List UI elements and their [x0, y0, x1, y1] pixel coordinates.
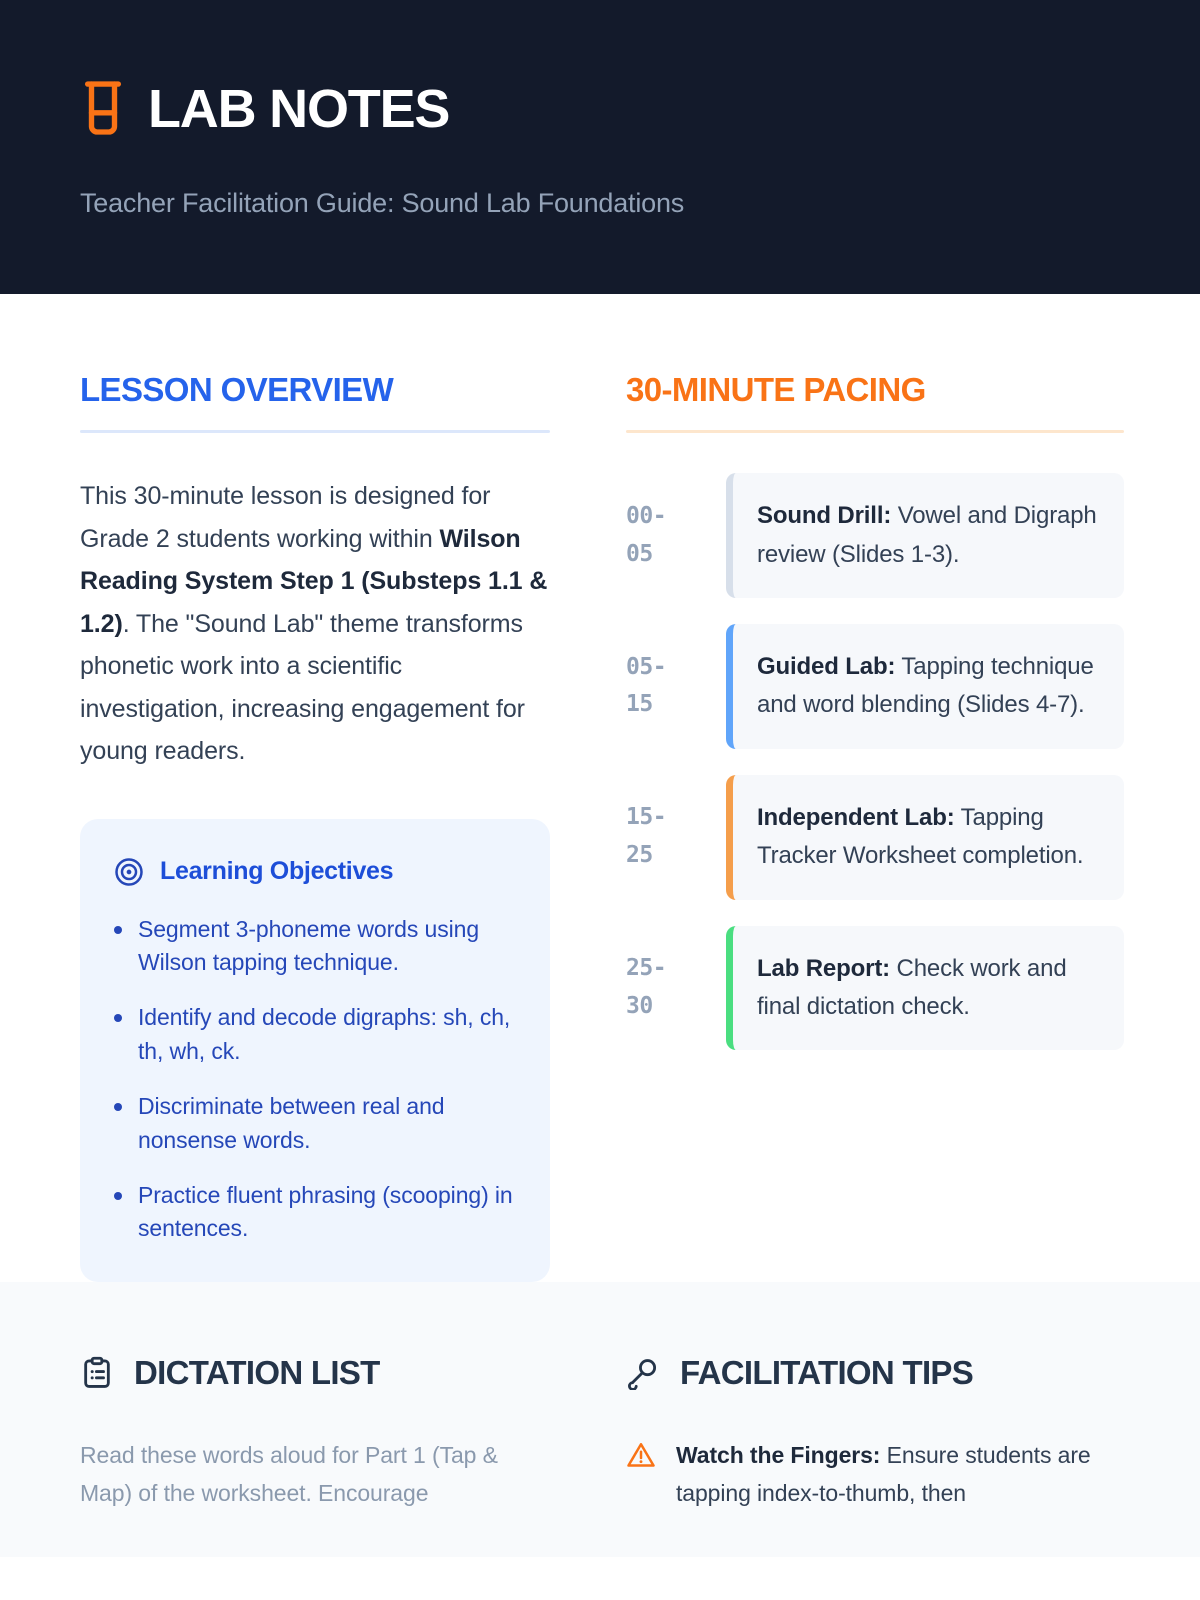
tip-item: Watch the Fingers: Ensure students are t…	[626, 1436, 1124, 1513]
list-item: Identify and decode digraphs: sh, ch, th…	[114, 1001, 516, 1068]
list-item: Discriminate between real and nonsense w…	[114, 1090, 516, 1157]
learning-objectives-header: Learning Objectives	[114, 857, 516, 887]
brand-row: LAB NOTES	[80, 78, 1120, 140]
pacing-time: 15- 25	[626, 775, 700, 900]
pacing-time-start: 25-	[626, 950, 700, 988]
objective-text: Practice fluent phrasing (scooping) in s…	[138, 1179, 516, 1246]
pacing-card: Lab Report: Check work and final dictati…	[726, 926, 1124, 1051]
main-top-section: LESSON OVERVIEW This 30-minute lesson is…	[0, 294, 1200, 1282]
pacing-row: 15- 25 Independent Lab: Tapping Tracker …	[626, 775, 1124, 900]
objective-text: Segment 3-phoneme words using Wilson tap…	[138, 913, 516, 980]
pacing-row: 00- 05 Sound Drill: Vowel and Digraph re…	[626, 473, 1124, 598]
pacing-card: Independent Lab: Tapping Tracker Workshe…	[726, 775, 1124, 900]
tips-heading: FACILITATION TIPS	[680, 1354, 973, 1392]
pacing-time-end: 30	[626, 988, 700, 1026]
pacing-time: 05- 15	[626, 624, 700, 749]
pacing-label: Independent Lab:	[757, 804, 955, 831]
learning-objectives-card: Learning Objectives Segment 3-phoneme wo…	[80, 819, 550, 1282]
pacing-time-start: 05-	[626, 649, 700, 687]
lesson-overview-divider	[80, 430, 550, 433]
pacing-divider	[626, 430, 1124, 433]
dictation-column: DICTATION LIST Read these words aloud fo…	[80, 1354, 550, 1557]
dictation-header: DICTATION LIST	[80, 1354, 550, 1392]
learning-objectives-title: Learning Objectives	[160, 857, 393, 886]
pacing-card: Guided Lab: Tapping technique and word b…	[726, 624, 1124, 749]
pacing-time-end: 15	[626, 686, 700, 724]
main-bottom-section: DICTATION LIST Read these words aloud fo…	[0, 1282, 1200, 1557]
pacing-list: 00- 05 Sound Drill: Vowel and Digraph re…	[626, 473, 1124, 1050]
bullet-icon	[114, 1192, 122, 1200]
tip-text: Watch the Fingers: Ensure students are t…	[676, 1436, 1124, 1513]
dictation-heading: DICTATION LIST	[134, 1354, 380, 1392]
pacing-card: Sound Drill: Vowel and Digraph review (S…	[726, 473, 1124, 598]
bullet-icon	[114, 1014, 122, 1022]
tips-column: FACILITATION TIPS Watch the Fingers: Ens…	[626, 1354, 1124, 1557]
clipboard-icon	[80, 1356, 114, 1390]
learning-objectives-list: Segment 3-phoneme words using Wilson tap…	[114, 913, 516, 1246]
pacing-time-start: 15-	[626, 799, 700, 837]
list-item: Practice fluent phrasing (scooping) in s…	[114, 1179, 516, 1246]
pacing-time-end: 25	[626, 837, 700, 875]
pacing-time: 25- 30	[626, 926, 700, 1051]
pacing-label: Lab Report:	[757, 955, 890, 982]
pacing-time-end: 05	[626, 536, 700, 574]
page-title: LAB NOTES	[148, 82, 449, 136]
list-item: Segment 3-phoneme words using Wilson tap…	[114, 913, 516, 980]
page-subtitle: Teacher Facilitation Guide: Sound Lab Fo…	[80, 188, 1120, 219]
pacing-row: 05- 15 Guided Lab: Tapping technique and…	[626, 624, 1124, 749]
pacing-label: Guided Lab:	[757, 653, 895, 680]
overview-lead: This 30-minute lesson is designed for Gr…	[80, 482, 490, 553]
warning-triangle-icon	[626, 1440, 656, 1470]
lesson-overview-column: LESSON OVERVIEW This 30-minute lesson is…	[80, 372, 550, 1282]
bullet-icon	[114, 1103, 122, 1111]
lesson-overview-paragraph: This 30-minute lesson is designed for Gr…	[80, 475, 550, 773]
microphone-icon	[626, 1356, 660, 1390]
objective-text: Identify and decode digraphs: sh, ch, th…	[138, 1001, 516, 1068]
pacing-row: 25- 30 Lab Report: Check work and final …	[626, 926, 1124, 1051]
pacing-time-start: 00-	[626, 498, 700, 536]
bullet-icon	[114, 926, 122, 934]
lesson-overview-heading: LESSON OVERVIEW	[80, 372, 550, 408]
tip-label: Watch the Fingers:	[676, 1442, 880, 1468]
objective-text: Discriminate between real and nonsense w…	[138, 1090, 516, 1157]
pacing-label: Sound Drill:	[757, 502, 891, 529]
page-header: LAB NOTES Teacher Facilitation Guide: So…	[0, 0, 1200, 294]
dictation-body: Read these words aloud for Part 1 (Tap &…	[80, 1436, 550, 1513]
pacing-time: 00- 05	[626, 473, 700, 598]
pacing-heading: 30-MINUTE PACING	[626, 372, 1124, 408]
target-icon	[114, 857, 144, 887]
overview-tail: . The "Sound Lab" theme transforms phone…	[80, 610, 525, 766]
pacing-column: 30-MINUTE PACING 00- 05 Sound Drill: Vow…	[626, 372, 1124, 1282]
flask-icon	[80, 78, 126, 140]
tips-header: FACILITATION TIPS	[626, 1354, 1124, 1392]
